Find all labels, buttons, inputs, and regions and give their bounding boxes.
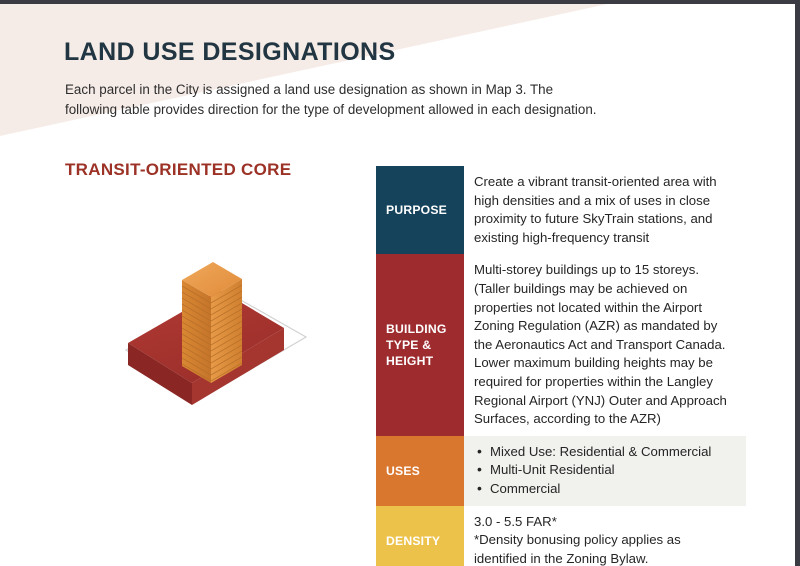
- isometric-building-illustration: [70, 215, 330, 450]
- table-row: BUILDING TYPE & HEIGHT Multi-storey buil…: [376, 254, 746, 435]
- page-frame-right-edge: [795, 0, 800, 566]
- table-row: PURPOSE Create a vibrant transit-oriente…: [376, 166, 746, 254]
- row-header-purpose: PURPOSE: [376, 166, 464, 254]
- row-content-density: 3.0 - 5.5 FAR* *Density bonusing policy …: [464, 506, 746, 566]
- document-page: LAND USE DESIGNATIONS Each parcel in the…: [0, 0, 800, 566]
- row-header-building-type-height: BUILDING TYPE & HEIGHT: [376, 254, 464, 435]
- table-row: USES Mixed Use: Residential & Commercial…: [376, 436, 746, 506]
- uses-bullet-list: Mixed Use: Residential & Commercial Mult…: [474, 443, 738, 499]
- list-item: Multi-Unit Residential: [474, 461, 738, 480]
- row-header-density: DENSITY: [376, 506, 464, 566]
- list-item: Mixed Use: Residential & Commercial: [474, 443, 738, 462]
- page-title: LAND USE DESIGNATIONS: [64, 38, 396, 67]
- page-frame-top-edge: [0, 0, 800, 4]
- row-content-building-type-height: Multi-storey buildings up to 15 storeys.…: [464, 254, 746, 435]
- decorative-diagonal-banner: [0, 3, 800, 143]
- tower-right-face: [211, 279, 242, 383]
- land-use-designation-table: PURPOSE Create a vibrant transit-oriente…: [376, 166, 746, 566]
- list-item: Commercial: [474, 480, 738, 499]
- row-content-uses: Mixed Use: Residential & Commercial Mult…: [464, 436, 746, 506]
- row-header-uses: USES: [376, 436, 464, 506]
- density-footnote-line-1: *Density bonusing policy applies as: [474, 531, 738, 550]
- density-far-value: 3.0 - 5.5 FAR*: [474, 513, 738, 532]
- section-title-transit-oriented-core: TRANSIT-ORIENTED CORE: [65, 160, 291, 180]
- tower-left-face: [182, 280, 211, 383]
- row-content-purpose: Create a vibrant transit-oriented area w…: [464, 166, 746, 254]
- intro-paragraph: Each parcel in the City is assigned a la…: [65, 80, 605, 119]
- density-footnote-line-2: identified in the Zoning Bylaw.: [474, 550, 738, 566]
- table-row: DENSITY 3.0 - 5.5 FAR* *Density bonusing…: [376, 506, 746, 566]
